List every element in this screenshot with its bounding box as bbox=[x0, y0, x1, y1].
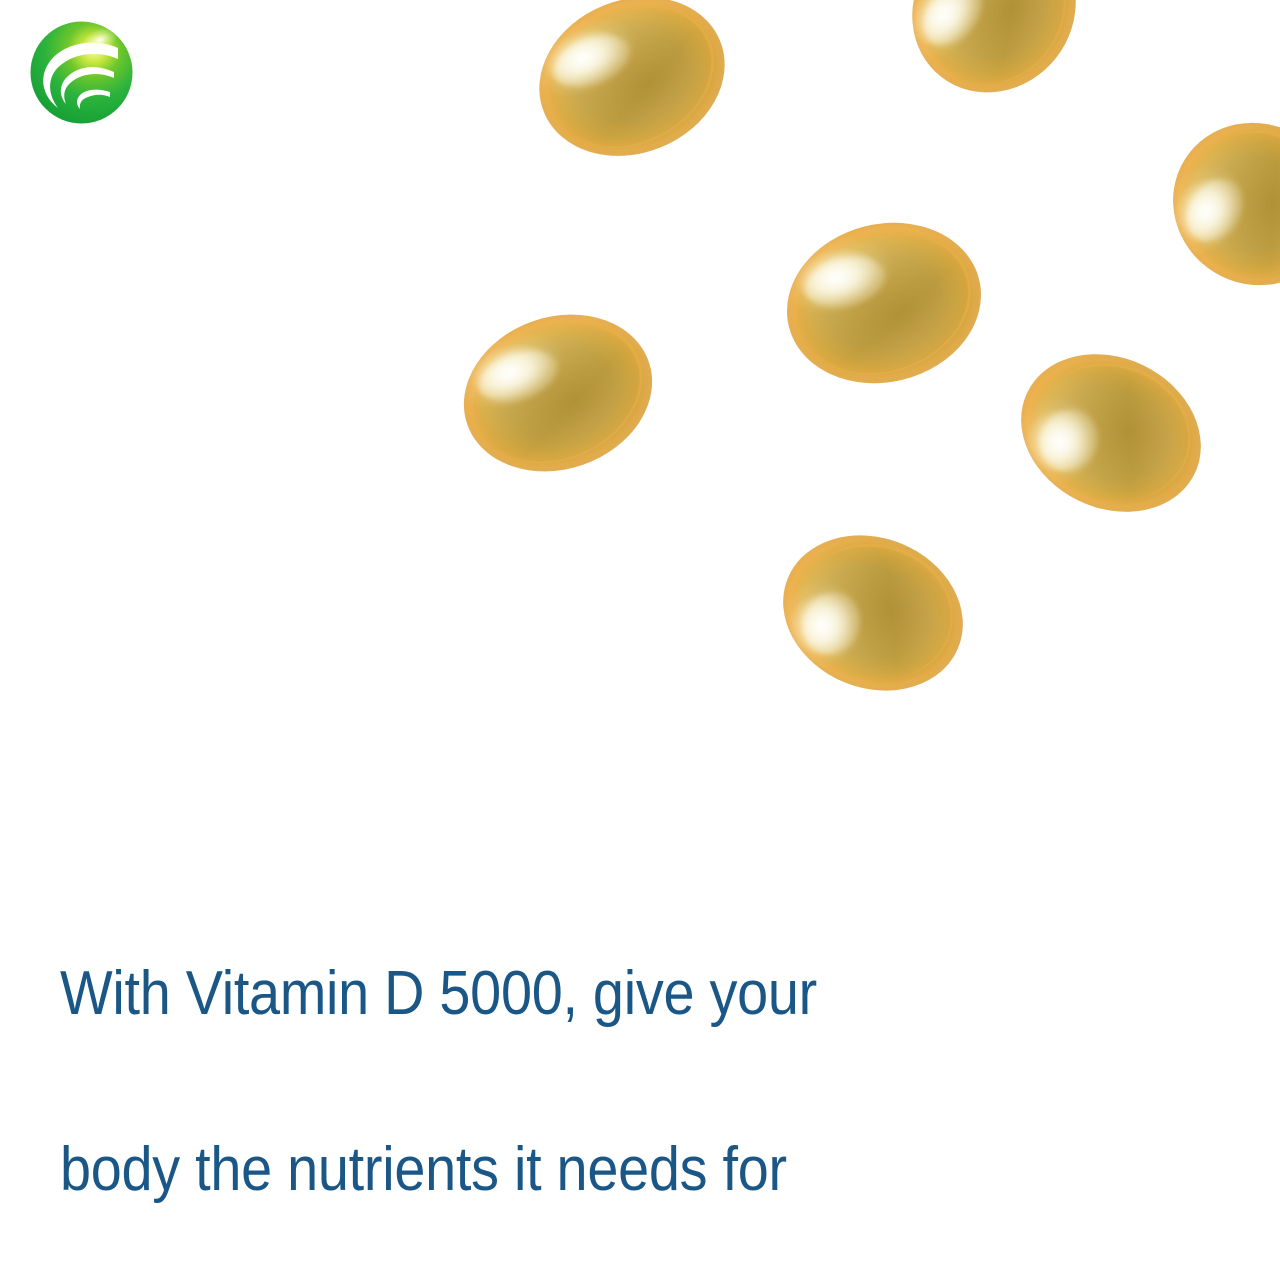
softgel-7 bbox=[760, 509, 987, 717]
capsule-seam bbox=[899, 0, 1093, 109]
headline-line-2: body the nutrients it needs for bbox=[60, 1126, 960, 1214]
capsule-seam bbox=[779, 208, 992, 399]
headline-text: With Vitamin D 5000, give your body the … bbox=[60, 862, 960, 1280]
capsule-seam bbox=[782, 528, 967, 697]
softgel-5 bbox=[442, 290, 673, 496]
product-banner: With Vitamin D 5000, give your body the … bbox=[0, 0, 1280, 1280]
capsule-seam bbox=[527, 0, 740, 176]
headline-line-1: With Vitamin D 5000, give your bbox=[60, 950, 960, 1038]
softgel-1 bbox=[515, 0, 748, 183]
softgel-6 bbox=[995, 325, 1228, 541]
capsule-seam bbox=[1016, 343, 1208, 520]
softgel-3 bbox=[1142, 92, 1280, 317]
softgel-2 bbox=[879, 0, 1109, 125]
softgel-4 bbox=[770, 203, 998, 404]
brand-logo-sphere-icon bbox=[30, 20, 133, 125]
capsule-seam bbox=[454, 297, 666, 491]
capsule-seam bbox=[1163, 108, 1280, 298]
